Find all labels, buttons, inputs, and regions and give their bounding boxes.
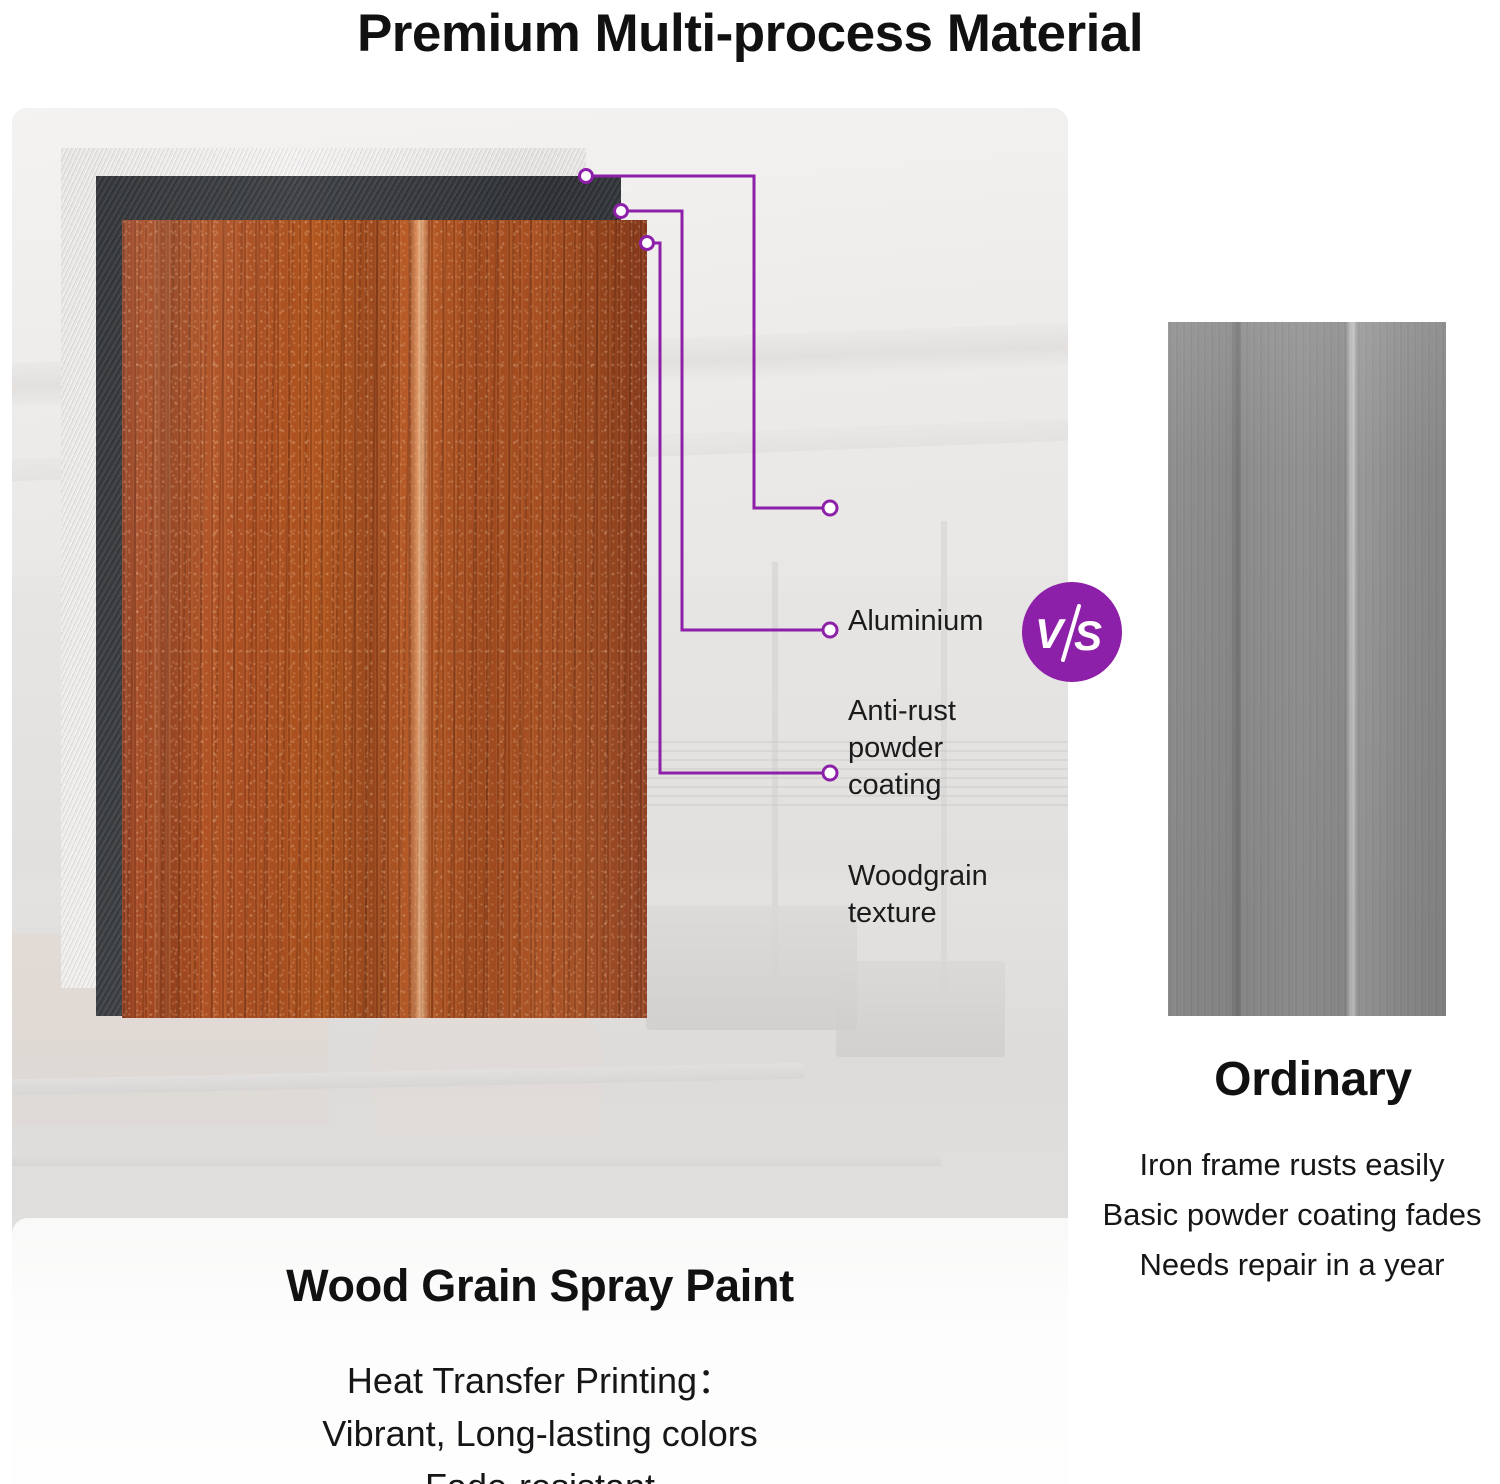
callout-woodgrain: Woodgrain texture	[848, 858, 988, 932]
vs-icon: V S	[1022, 582, 1122, 682]
ordinary-line: Iron frame rusts easily	[1090, 1140, 1494, 1190]
caption-line: Fade-resistant	[12, 1460, 1068, 1484]
layer-anchor-dot-aluminium	[580, 170, 593, 183]
ordinary-product-panel	[1168, 322, 1446, 1016]
caption-feature-list: Heat Transfer Printing： Vibrant, Long-la…	[12, 1354, 1068, 1484]
ordinary-line: Needs repair in a year	[1090, 1240, 1494, 1290]
page-title: Premium Multi-process Material	[0, 4, 1500, 64]
callout-line: Aluminium	[848, 603, 983, 640]
callout-line: Woodgrain	[848, 858, 988, 895]
callout-aluminium: Aluminium	[848, 603, 983, 640]
callout-anti-rust: Anti-rust powder coating	[848, 693, 956, 804]
layer-anchor-dot-woodgrain	[641, 237, 654, 250]
callout-line: texture	[848, 895, 988, 932]
caption-line: Vibrant, Long-lasting colors	[12, 1407, 1068, 1460]
ordinary-title: Ordinary	[1168, 1052, 1458, 1107]
caption-panel: Wood Grain Spray Paint Heat Transfer Pri…	[12, 1218, 1068, 1484]
svg-text:S: S	[1074, 612, 1102, 659]
versus-badge: V S	[1022, 582, 1122, 682]
ordinary-drawback-list: Iron frame rusts easily Basic powder coa…	[1090, 1140, 1494, 1290]
callout-line: coating	[848, 767, 956, 804]
callout-line: Anti-rust	[848, 693, 956, 730]
ordinary-panel-sheen	[1168, 322, 1446, 1016]
ordinary-line: Basic powder coating fades	[1090, 1190, 1494, 1240]
label-dot-anti-rust	[823, 623, 837, 637]
premium-material-card: Aluminium Anti-rust powder coating Woodg…	[12, 108, 1068, 1484]
svg-text:V: V	[1035, 610, 1066, 657]
callout-line: powder	[848, 730, 956, 767]
label-dot-woodgrain	[823, 766, 837, 780]
caption-title: Wood Grain Spray Paint	[12, 1260, 1068, 1312]
caption-line: Heat Transfer Printing：	[12, 1354, 1068, 1407]
label-dot-aluminium	[823, 501, 837, 515]
layer-anchor-dot-powder-coating	[615, 205, 628, 218]
